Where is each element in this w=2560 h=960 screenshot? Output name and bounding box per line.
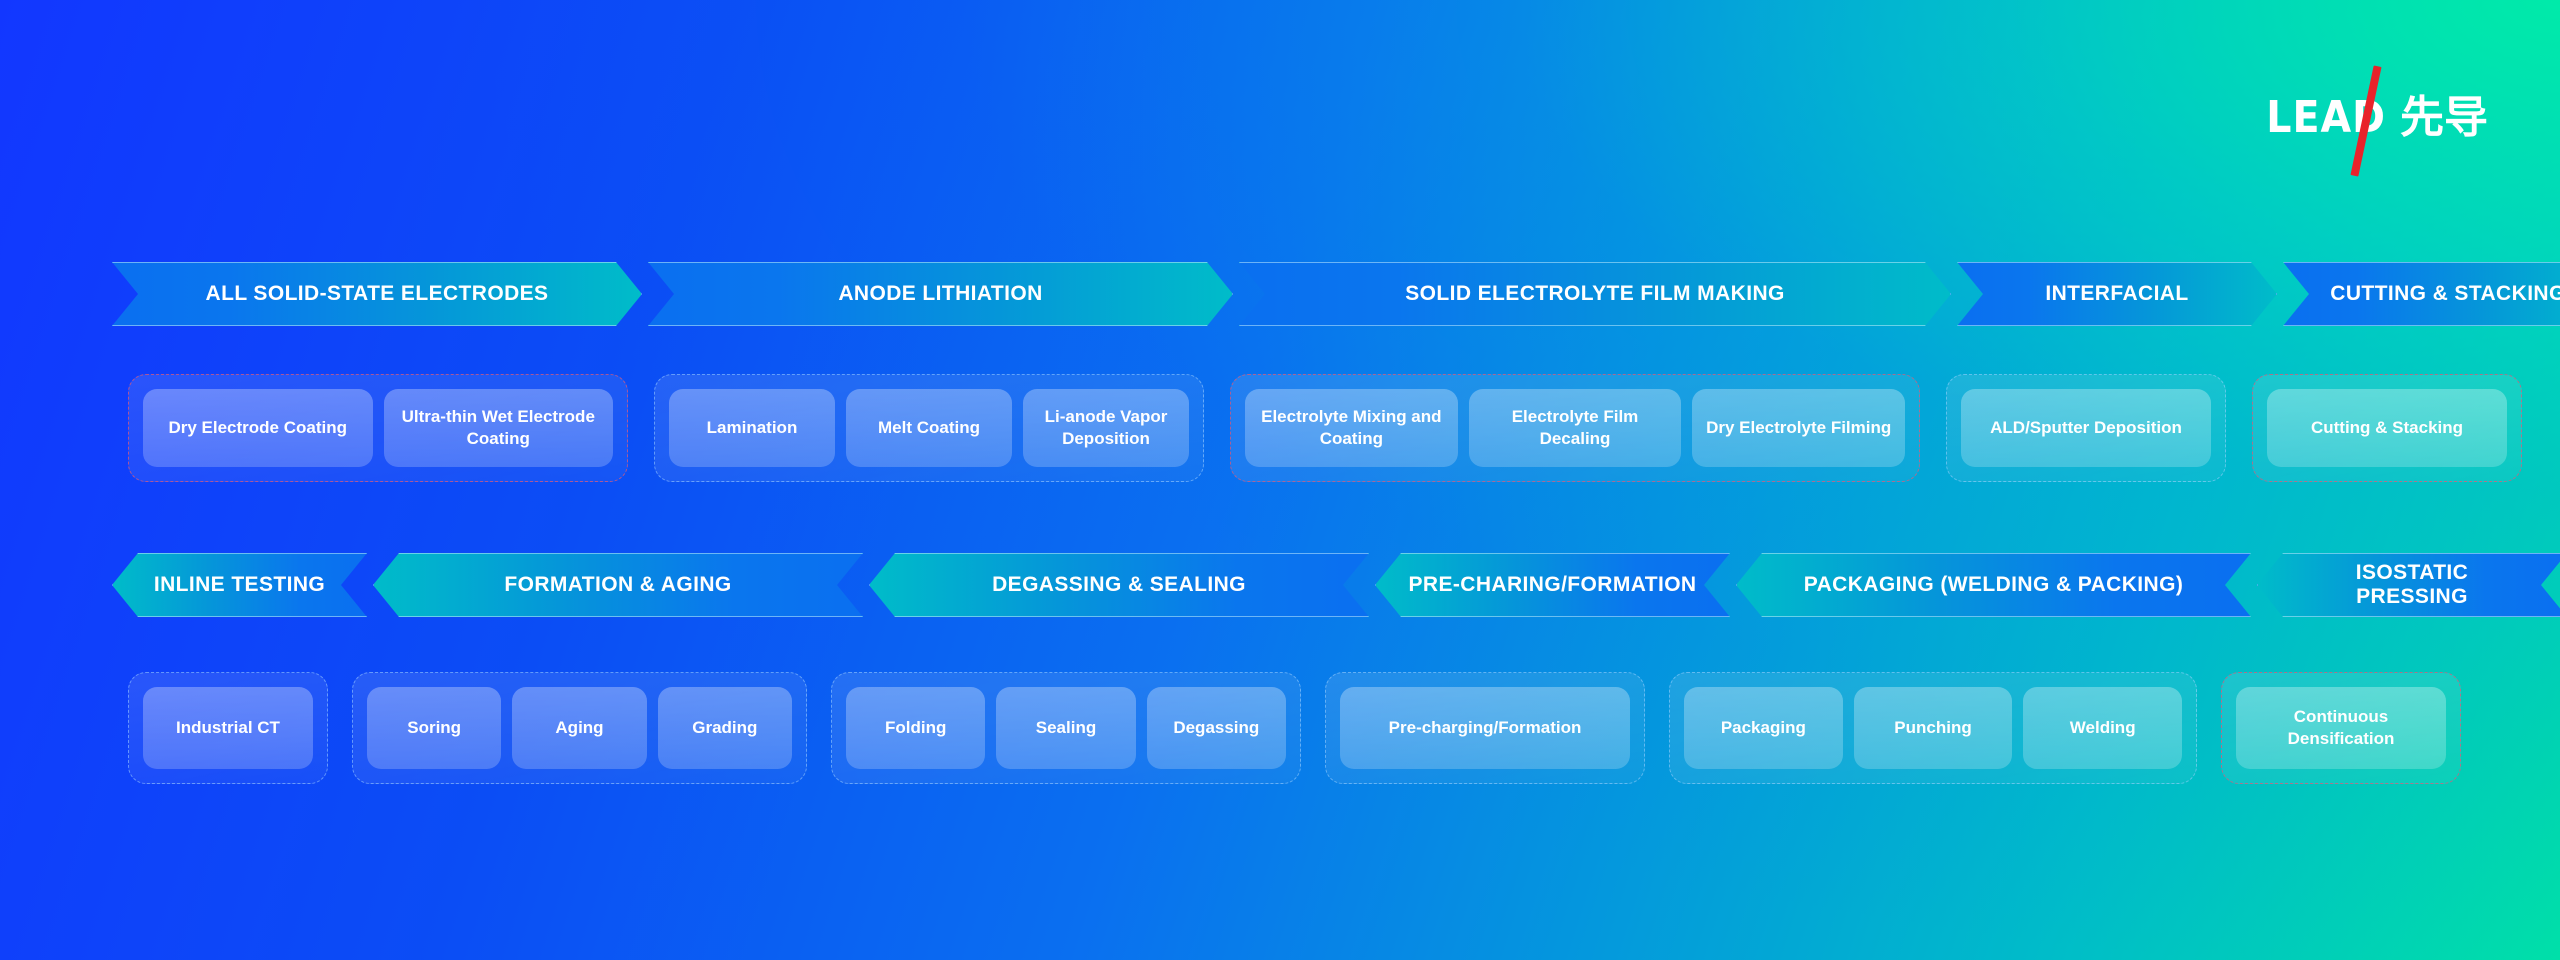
process-card[interactable]: Grading xyxy=(658,687,792,769)
stage-banner-label: INLINE TESTING xyxy=(138,573,341,597)
logo-mark: LEAD xyxy=(2266,95,2386,141)
process-card[interactable]: Lamination xyxy=(669,389,835,467)
stage-banner-label: CUTTING & STACKING xyxy=(2314,282,2560,306)
process-card-label: Industrial CT xyxy=(176,717,280,739)
stage-group: Pre-charging/Formation xyxy=(1325,672,1645,784)
process-card-label: Electrolyte Mixing and Coating xyxy=(1255,406,1448,450)
stage-banner[interactable]: ALL SOLID-STATE ELECTRODES xyxy=(112,262,642,326)
stage-banner-label: PRE-CHARING/FORMATION xyxy=(1393,573,1713,597)
stage-banner-label: DEGASSING & SEALING xyxy=(976,573,1262,597)
process-card[interactable]: Aging xyxy=(512,687,646,769)
process-card-label: Pre-charging/Formation xyxy=(1389,717,1582,739)
stage-banner[interactable]: SOLID ELECTROLYTE FILM MAKING xyxy=(1239,262,1951,326)
stage-banner[interactable]: INTERFACIAL xyxy=(1957,262,2277,326)
stage-banner-label: ALL SOLID-STATE ELECTRODES xyxy=(190,282,565,306)
process-card[interactable]: Dry Electrolyte Filming xyxy=(1692,389,1905,467)
stage-banner-row-1: ALL SOLID-STATE ELECTRODESANODE LITHIATI… xyxy=(112,262,2560,326)
process-card[interactable]: Cutting & Stacking xyxy=(2267,389,2507,467)
process-card[interactable]: Electrolyte Mixing and Coating xyxy=(1245,389,1458,467)
process-card-label: Electrolyte Film Decaling xyxy=(1479,406,1672,450)
process-card-label: Cutting & Stacking xyxy=(2311,417,2463,439)
process-card[interactable]: Packaging xyxy=(1684,687,1843,769)
process-card[interactable]: Li-anode Vapor Deposition xyxy=(1023,389,1189,467)
stage-group: Industrial CT xyxy=(128,672,328,784)
process-card[interactable]: Industrial CT xyxy=(143,687,313,769)
process-card-label: Melt Coating xyxy=(878,417,980,439)
process-card[interactable]: Electrolyte Film Decaling xyxy=(1469,389,1682,467)
process-card-label: Ultra-thin Wet Electrode Coating xyxy=(394,406,604,450)
process-card[interactable]: Melt Coating xyxy=(846,389,1012,467)
stage-banner-label: ANODE LITHIATION xyxy=(822,282,1058,306)
process-card-label: Punching xyxy=(1894,717,1971,739)
stage-group: PackagingPunchingWelding xyxy=(1669,672,2197,784)
process-card-label: Lamination xyxy=(707,417,798,439)
process-card-label: Dry Electrolyte Filming xyxy=(1706,417,1891,439)
stage-group: Dry Electrode CoatingUltra-thin Wet Elec… xyxy=(128,374,628,482)
process-card[interactable]: ALD/Sputter Deposition xyxy=(1961,389,2211,467)
stage-banner[interactable]: ANODE LITHIATION xyxy=(648,262,1233,326)
stage-group: SoringAgingGrading xyxy=(352,672,807,784)
stage-banner-label: SOLID ELECTROLYTE FILM MAKING xyxy=(1389,282,1801,306)
stage-group: Continuous Densification xyxy=(2221,672,2461,784)
stage-group: Electrolyte Mixing and CoatingElectrolyt… xyxy=(1230,374,1920,482)
stage-banner[interactable]: DEGASSING & SEALING xyxy=(869,553,1369,617)
stage-banner[interactable]: ISOSTATICPRESSING xyxy=(2257,553,2560,617)
process-card-label: Soring xyxy=(407,717,461,739)
stage-group-row-1: Dry Electrode CoatingUltra-thin Wet Elec… xyxy=(128,374,2522,482)
process-card-label: Sealing xyxy=(1036,717,1096,739)
process-card[interactable]: Soring xyxy=(367,687,501,769)
process-card-label: Aging xyxy=(555,717,603,739)
process-card[interactable]: Folding xyxy=(846,687,985,769)
stage-group: FoldingSealingDegassing xyxy=(831,672,1301,784)
stage-banner[interactable]: PRE-CHARING/FORMATION xyxy=(1375,553,1730,617)
process-card-label: Packaging xyxy=(1721,717,1806,739)
stage-banner-label: FORMATION & AGING xyxy=(488,573,747,597)
process-card[interactable]: Welding xyxy=(2023,687,2182,769)
stage-banner-label: PACKAGING (WELDING & PACKING) xyxy=(1788,573,2199,597)
process-card[interactable]: Degassing xyxy=(1147,687,1286,769)
lead-logo: LEAD 先导 xyxy=(2266,88,2488,148)
stage-banner-row-2: INLINE TESTINGFORMATION & AGINGDEGASSING… xyxy=(112,553,2560,617)
stage-banner[interactable]: CUTTING & STACKING xyxy=(2283,262,2560,326)
process-card[interactable]: Sealing xyxy=(996,687,1135,769)
process-card[interactable]: Punching xyxy=(1854,687,2013,769)
process-card-label: Dry Electrode Coating xyxy=(168,417,347,439)
stage-banner-label: ISOSTATICPRESSING xyxy=(2340,561,2485,608)
process-card-label: Welding xyxy=(2070,717,2136,739)
stage-group-row-2: Industrial CTSoringAgingGradingFoldingSe… xyxy=(128,672,2461,784)
process-card-label: Degassing xyxy=(1173,717,1259,739)
stage-banner-label: INTERFACIAL xyxy=(2029,282,2204,306)
process-card-label: Li-anode Vapor Deposition xyxy=(1033,406,1179,450)
stage-banner[interactable]: PACKAGING (WELDING & PACKING) xyxy=(1736,553,2251,617)
diagram-canvas: LEAD 先导 ALL SOLID-STATE ELECTRODESANODE … xyxy=(0,0,2560,960)
stage-group: LaminationMelt CoatingLi-anode Vapor Dep… xyxy=(654,374,1204,482)
stage-group: Cutting & Stacking xyxy=(2252,374,2522,482)
process-card[interactable]: Dry Electrode Coating xyxy=(143,389,373,467)
process-card[interactable]: Continuous Densification xyxy=(2236,687,2446,769)
process-card[interactable]: Ultra-thin Wet Electrode Coating xyxy=(384,389,614,467)
process-card[interactable]: Pre-charging/Formation xyxy=(1340,687,1630,769)
process-card-label: Continuous Densification xyxy=(2246,706,2436,750)
logo-cjk-text: 先导 xyxy=(2400,96,2488,140)
process-card-label: Grading xyxy=(692,717,757,739)
process-card-label: Folding xyxy=(885,717,946,739)
stage-group: ALD/Sputter Deposition xyxy=(1946,374,2226,482)
process-card-label: ALD/Sputter Deposition xyxy=(1990,417,2182,439)
stage-banner[interactable]: INLINE TESTING xyxy=(112,553,367,617)
stage-banner[interactable]: FORMATION & AGING xyxy=(373,553,863,617)
